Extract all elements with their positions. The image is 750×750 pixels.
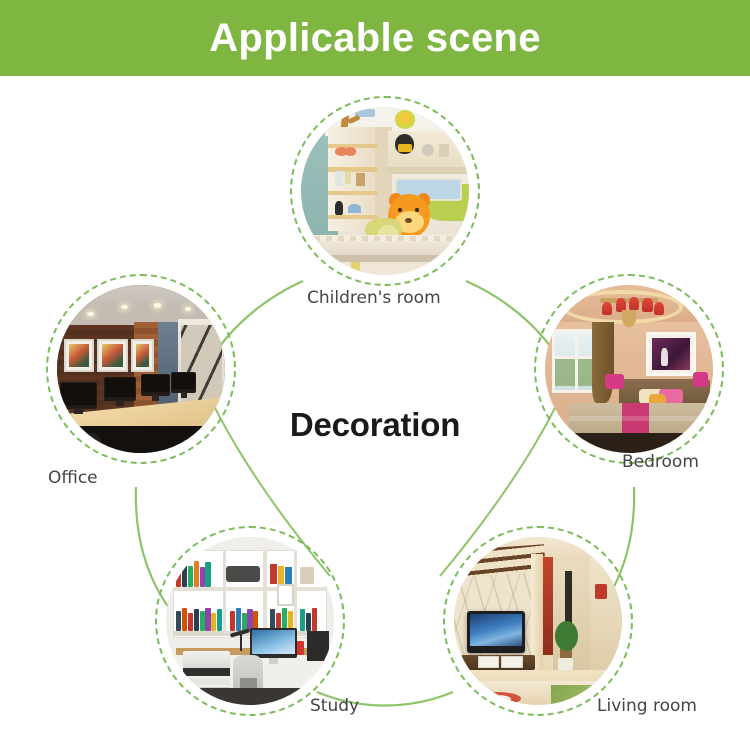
node-study[interactable] [155,526,345,716]
label-office: Office [48,468,98,488]
label-childrens-room: Children's room [307,288,441,308]
label-living-room: Living room [597,696,697,716]
applicable-scene-infographic: Applicable scene [0,0,750,750]
label-study: Study [310,696,359,716]
diagram-stage: Children's room [0,76,750,750]
header-banner: Applicable scene [0,0,750,76]
node-living-room[interactable] [443,526,633,716]
center-label: Decoration [0,406,750,444]
page-title: Applicable scene [209,16,541,61]
node-childrens-room[interactable] [290,96,480,286]
childrens-room-photo [301,107,469,275]
living-room-photo [454,537,622,705]
label-bedroom: Bedroom [622,452,699,472]
study-photo [166,537,334,705]
